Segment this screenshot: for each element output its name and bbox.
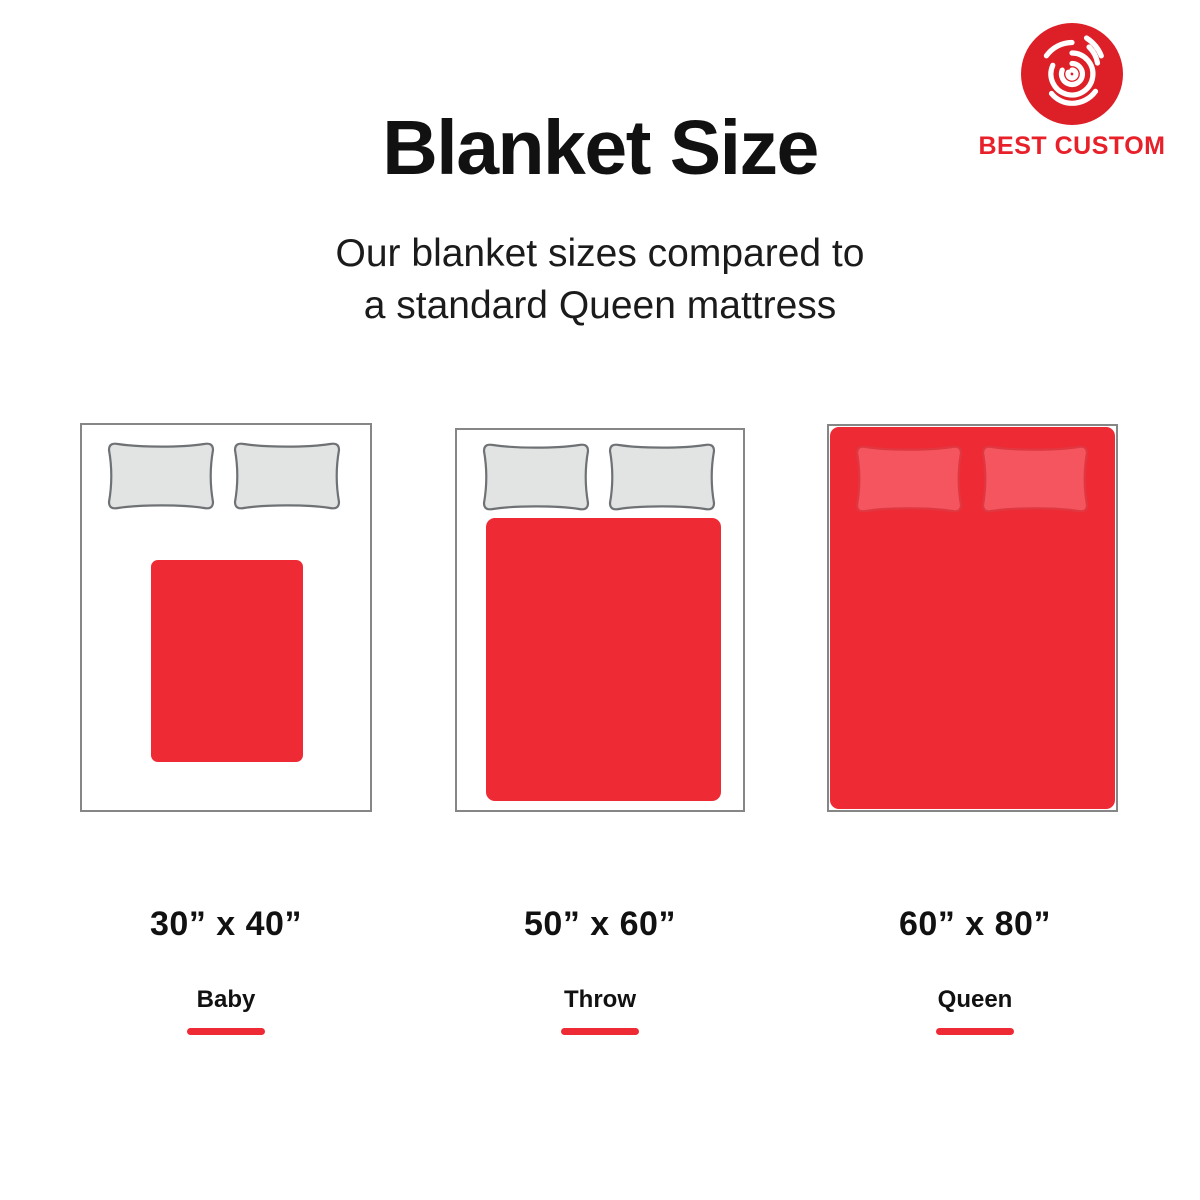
bed-diagram-throw — [455, 428, 745, 812]
bed-diagram-queen — [827, 424, 1118, 812]
caption-queen: 60” x 80” Queen — [795, 905, 1155, 1035]
pillow-icon — [978, 444, 1092, 514]
page-subtitle-line-2: a standard Queen mattress — [0, 280, 1200, 332]
accent-underline — [561, 1028, 639, 1035]
accent-underline — [936, 1028, 1014, 1035]
bed-diagram-baby — [80, 423, 372, 812]
pillow-icon — [852, 444, 966, 514]
page-subtitle-line-1: Our blanket sizes compared to — [0, 228, 1200, 280]
blanket-shape-queen — [830, 427, 1115, 809]
type-label: Queen — [795, 986, 1155, 1014]
blanket-shape-throw — [486, 518, 721, 801]
bed-diagram-row — [0, 423, 1200, 823]
pillow-icon — [605, 442, 719, 512]
caption-baby: 30” x 40” Baby — [46, 905, 406, 1035]
blanket-shape-baby — [151, 560, 303, 762]
page-title: Blanket Size — [0, 104, 1200, 193]
page-subtitle: Our blanket sizes compared to a standard… — [0, 228, 1200, 332]
pillow-icon — [479, 442, 593, 512]
pillow-icon — [230, 441, 344, 511]
size-label: 50” x 60” — [420, 905, 780, 944]
accent-underline — [187, 1028, 265, 1035]
size-label: 60” x 80” — [795, 905, 1155, 944]
caption-row: 30” x 40” Baby 50” x 60” Throw 60” x 80”… — [0, 905, 1200, 1045]
pillow-icon — [104, 441, 218, 511]
type-label: Baby — [46, 986, 406, 1014]
type-label: Throw — [420, 986, 780, 1014]
caption-throw: 50” x 60” Throw — [420, 905, 780, 1035]
size-label: 30” x 40” — [46, 905, 406, 944]
